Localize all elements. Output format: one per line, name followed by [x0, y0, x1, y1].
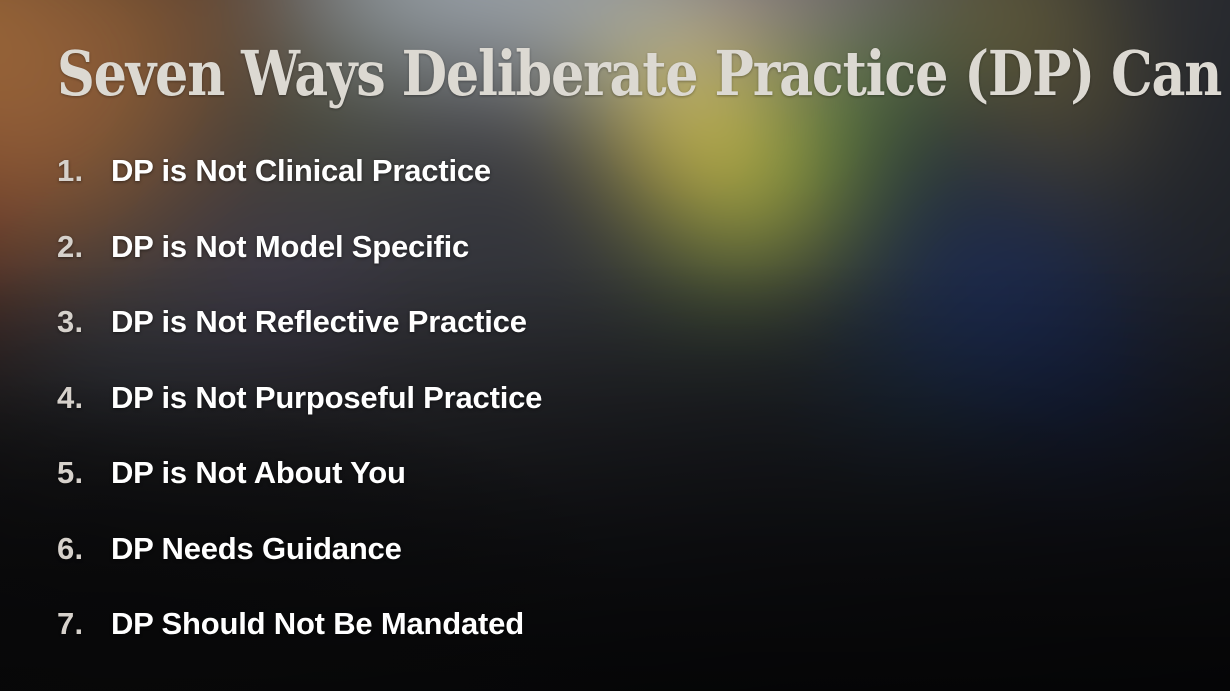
- list-item-label: DP is Not Model Specific: [111, 231, 469, 262]
- list-item: 6. DP Needs Guidance: [0, 533, 1230, 609]
- list-item-number: 3.: [57, 306, 111, 337]
- slide-content: Seven Ways Deliberate Practice (DP) Can …: [0, 0, 1230, 691]
- list-item: 5. DP is Not About You: [0, 457, 1230, 533]
- list-item-number: 5.: [57, 457, 111, 488]
- list-item: 3. DP is Not Reflective Practice: [0, 306, 1230, 382]
- list-item-number: 6.: [57, 533, 111, 564]
- slide-title: Seven Ways Deliberate Practice (DP) Can …: [57, 42, 1012, 105]
- list-item: 1. DP is Not Clinical Practice: [0, 155, 1230, 231]
- list-item: 2. DP is Not Model Specific: [0, 231, 1230, 307]
- list-item-number: 2.: [57, 231, 111, 262]
- list-item-label: DP is Not Clinical Practice: [111, 155, 491, 186]
- list-item-label: DP is Not Purposeful Practice: [111, 382, 542, 413]
- list-item-label: DP Needs Guidance: [111, 533, 402, 564]
- list-item: 4. DP is Not Purposeful Practice: [0, 382, 1230, 458]
- list-item-label: DP Should Not Be Mandated: [111, 608, 524, 639]
- numbered-list: 1. DP is Not Clinical Practice 2. DP is …: [0, 155, 1230, 684]
- list-item-number: 4.: [57, 382, 111, 413]
- list-item-label: DP is Not Reflective Practice: [111, 306, 527, 337]
- presentation-slide: Seven Ways Deliberate Practice (DP) Can …: [0, 0, 1230, 691]
- list-item-number: 1.: [57, 155, 111, 186]
- list-item: 7. DP Should Not Be Mandated: [0, 608, 1230, 684]
- list-item-label: DP is Not About You: [111, 457, 406, 488]
- list-item-number: 7.: [57, 608, 111, 639]
